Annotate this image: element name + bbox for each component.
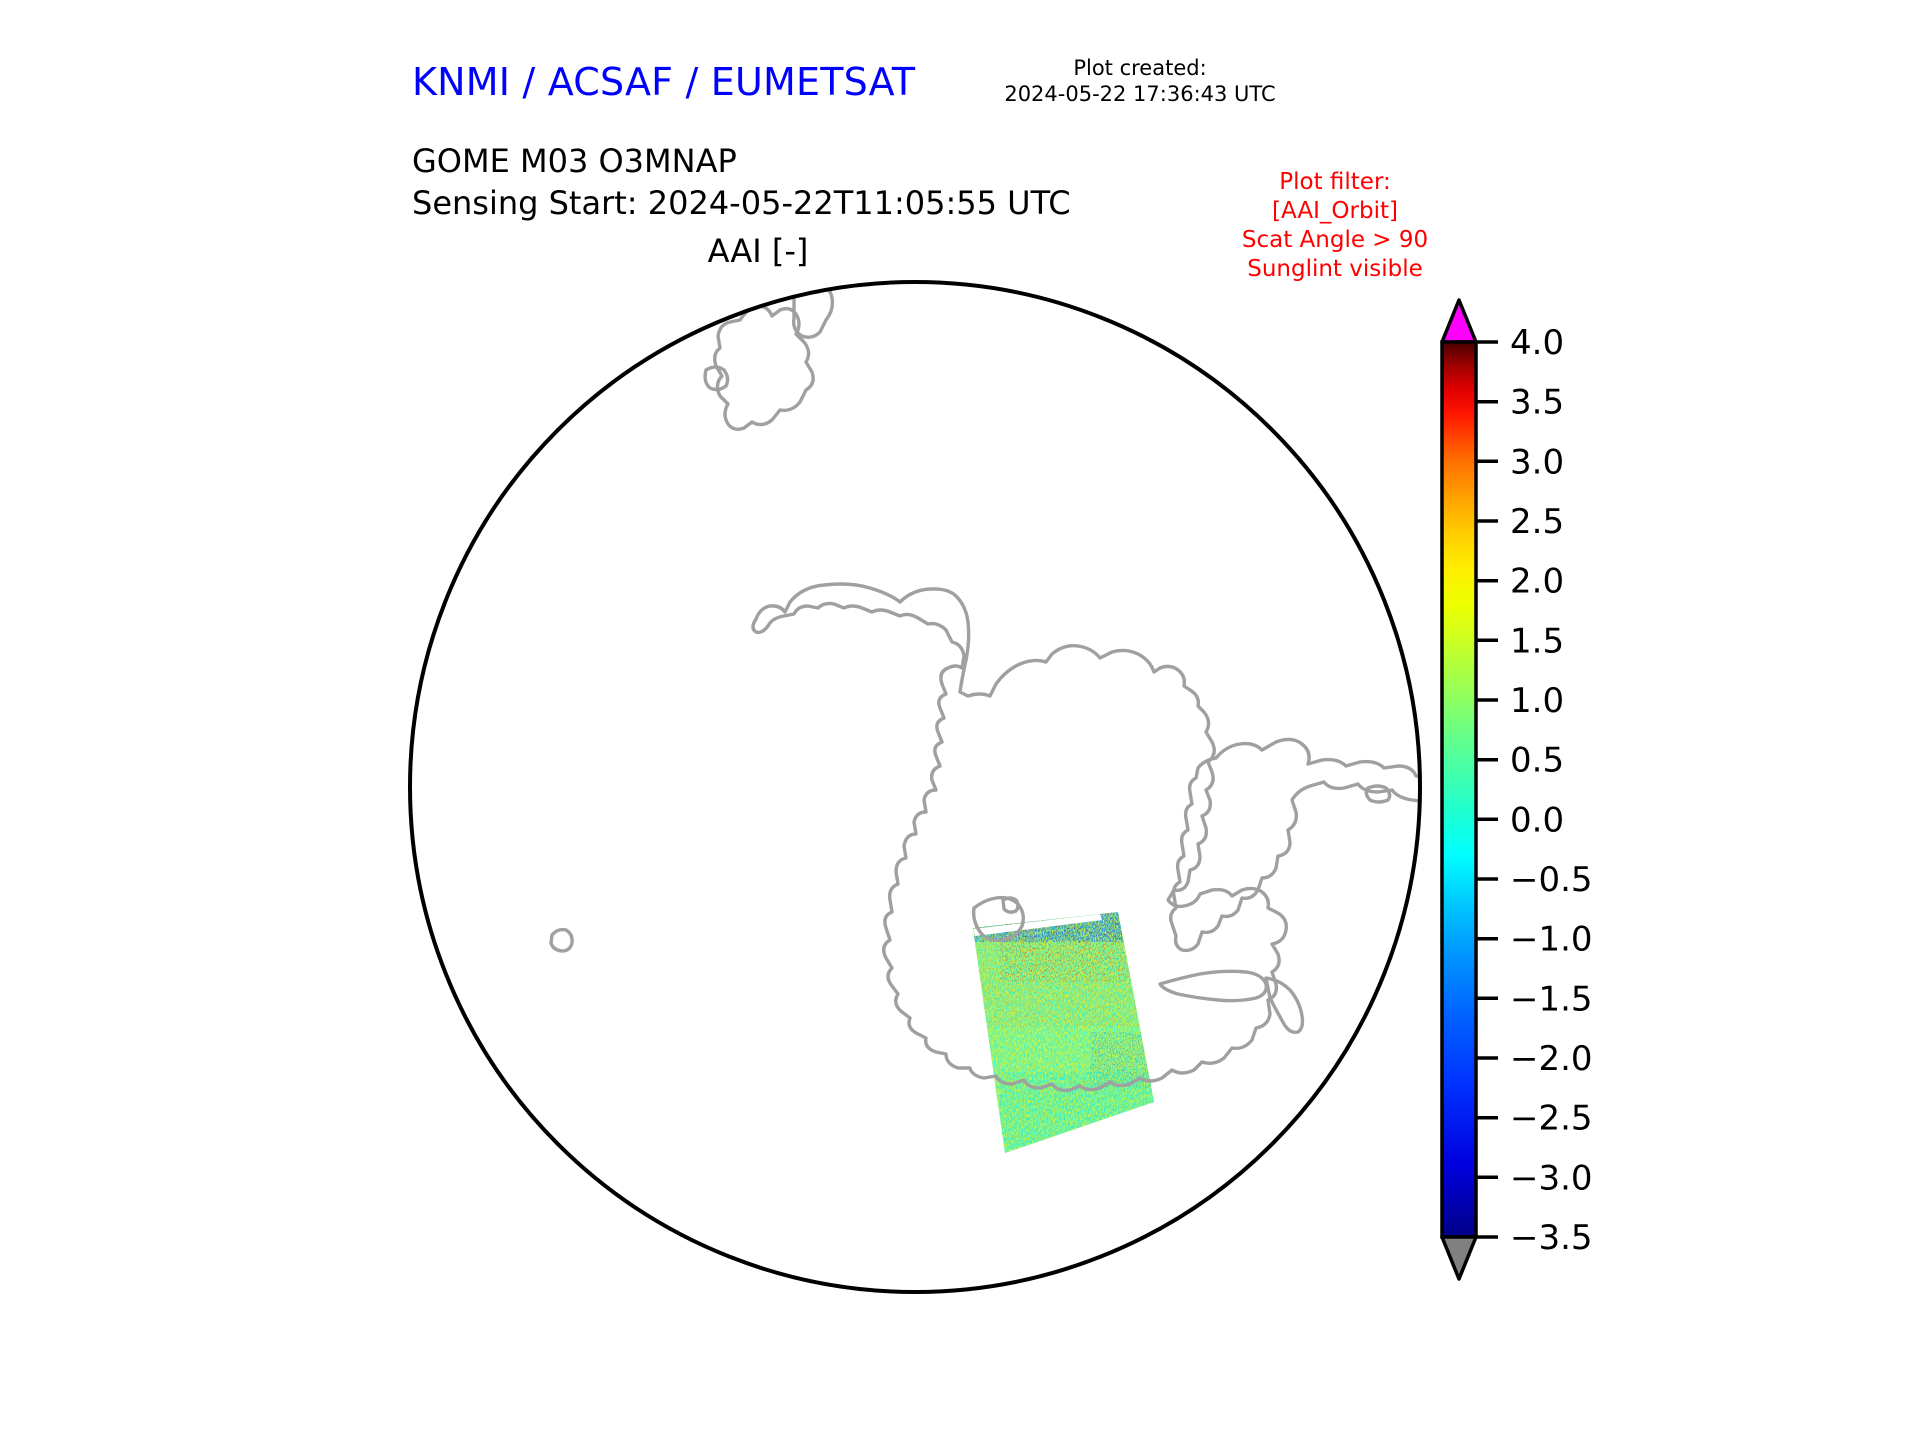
colorbar: 4.0 3.5 3.0 2.5 2.0 1.5 1.0 0.5 0.0 −0.5… — [1432, 282, 1832, 1302]
variable-title: AAI [-] — [412, 232, 1104, 270]
colorbar-label-5: 1.5 — [1510, 621, 1564, 661]
colorbar-label-3: 2.5 — [1510, 502, 1564, 542]
colorbar-under-arrow — [1442, 1237, 1476, 1279]
globe-background — [410, 282, 1420, 1292]
colorbar-label-1: 3.5 — [1510, 383, 1564, 423]
colorbar-label-0: 4.0 — [1510, 323, 1564, 363]
colorbar-label-6: 1.0 — [1510, 681, 1564, 721]
map-panel — [400, 272, 1430, 1302]
plot-created-label: Plot created: — [970, 56, 1310, 82]
plot-filter-block: Plot filter: [AAI_Orbit] Scat Angle > 90… — [1210, 168, 1460, 284]
colorbar-label-14: −3.0 — [1510, 1158, 1593, 1198]
colorbar-label-7: 0.5 — [1510, 741, 1564, 781]
colorbar-label-8: 0.0 — [1510, 800, 1564, 840]
coastline-tasmania — [436, 390, 475, 431]
plot-created-value: 2024-05-22 17:36:43 UTC — [970, 82, 1310, 108]
colorbar-gradient-bar — [1442, 342, 1476, 1237]
institute-header: KNMI / ACSAF / EUMETSAT — [412, 60, 915, 104]
colorbar-ticks — [1476, 342, 1498, 1237]
plot-filter-line-0: Plot filter: — [1210, 168, 1460, 197]
plot-created-block: Plot created: 2024-05-22 17:36:43 UTC — [970, 56, 1310, 107]
polar-map — [400, 272, 1430, 1302]
plot-filter-line-1: [AAI_Orbit] — [1210, 197, 1460, 226]
coastline-australia-fragment — [400, 366, 458, 384]
dataset-title: GOME M03 O3MNAP — [412, 140, 1071, 182]
colorbar-label-15: −3.5 — [1510, 1218, 1593, 1258]
colorbar-label-12: −2.0 — [1510, 1039, 1593, 1079]
dataset-title-block: GOME M03 O3MNAP Sensing Start: 2024-05-2… — [412, 140, 1071, 224]
colorbar-label-11: −1.5 — [1510, 979, 1593, 1019]
colorbar-label-10: −1.0 — [1510, 920, 1593, 960]
colorbar-panel: 4.0 3.5 3.0 2.5 2.0 1.5 1.0 0.5 0.0 −0.5… — [1432, 282, 1832, 1302]
colorbar-label-4: 2.0 — [1510, 562, 1564, 602]
sensing-start-title: Sensing Start: 2024-05-22T11:05:55 UTC — [412, 182, 1071, 224]
colorbar-label-2: 3.0 — [1510, 442, 1564, 482]
colorbar-label-13: −2.5 — [1510, 1099, 1593, 1139]
plot-filter-line-2: Scat Angle > 90 — [1210, 226, 1460, 255]
colorbar-label-9: −0.5 — [1510, 860, 1593, 900]
colorbar-over-arrow — [1442, 300, 1476, 342]
colorbar-tick-labels: 4.0 3.5 3.0 2.5 2.0 1.5 1.0 0.5 0.0 −0.5… — [1510, 323, 1593, 1258]
